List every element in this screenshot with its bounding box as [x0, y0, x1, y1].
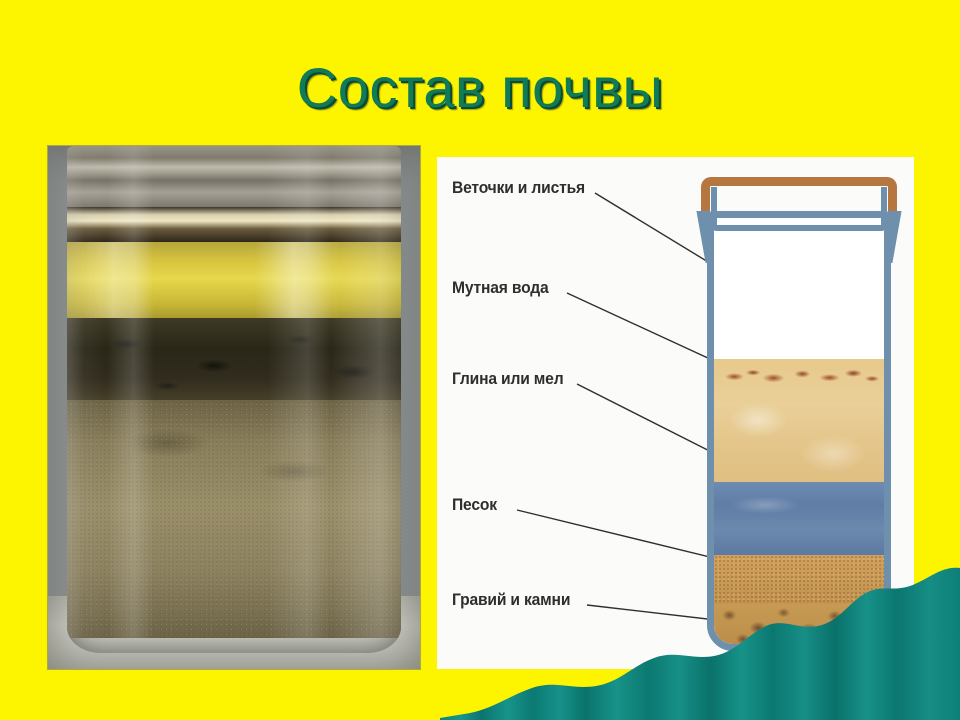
diagram-panel: Веточки и листья Мутная вода Глина или м… [437, 157, 914, 669]
jar-layer-air [714, 218, 884, 363]
jar-lid-inner-rim [711, 187, 887, 231]
label-clay-chalk: Глина или мел [452, 369, 563, 389]
label-murky-water: Мутная вода [452, 278, 549, 298]
jar-glass-body [707, 211, 891, 651]
photo-vignette [48, 146, 420, 669]
page-title: Состав почвы [0, 56, 960, 120]
soil-jar-photo [48, 146, 420, 669]
schematic-jar [699, 171, 899, 656]
jar-layer-sand-grain [714, 555, 884, 606]
jar-layer-clay [714, 482, 884, 559]
label-twigs-leaves: Веточки и листья [452, 178, 585, 198]
label-sand: Песок [452, 495, 497, 515]
jar-layer-gravel [714, 604, 884, 644]
jar-layer-twigs-leaves [714, 359, 884, 393]
slide-canvas: Состав почвы Веточки и листья Мутная вод… [0, 0, 960, 720]
label-gravel-stones: Гравий и камни [452, 590, 570, 610]
